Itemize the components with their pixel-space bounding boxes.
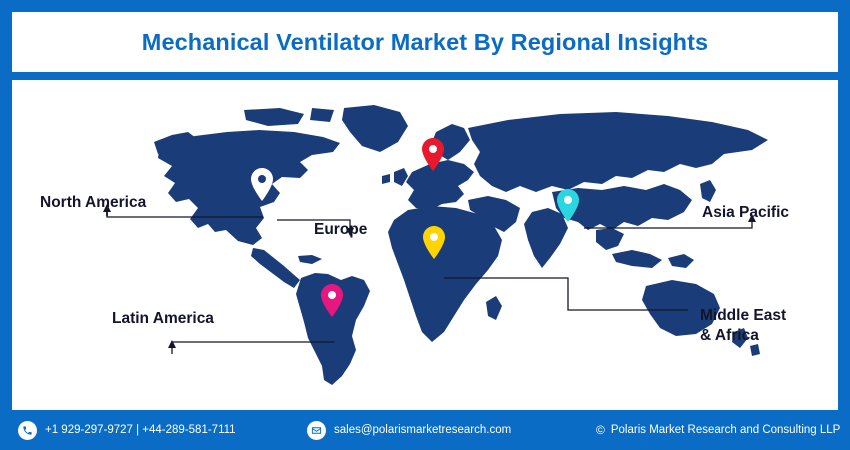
map-landmasses: [154, 105, 768, 385]
page-title: Mechanical Ventilator Market By Regional…: [12, 12, 838, 72]
footer-phone[interactable]: +1 929-297-9727 | +44-289-581-7111: [18, 410, 236, 450]
footer-email-text: sales@polarismarketresearch.com: [334, 424, 511, 436]
footer-copyright: © Polaris Market Research and Consulting…: [596, 410, 840, 450]
envelope-icon: [307, 421, 326, 440]
footer-email[interactable]: sales@polarismarketresearch.com: [307, 410, 511, 450]
label-middle-east-africa-line2: & Africa: [700, 326, 786, 346]
footer-copyright-text: Polaris Market Research and Consulting L…: [611, 424, 840, 436]
label-latin-america: Latin America: [112, 309, 214, 328]
footer-bar: +1 929-297-9727 | +44-289-581-7111 sales…: [0, 410, 850, 450]
label-middle-east-africa: Middle East & Africa: [700, 306, 786, 346]
leader-latin-america: [172, 342, 334, 354]
label-europe: Europe: [314, 220, 367, 239]
header-band: Mechanical Ventilator Market By Regional…: [12, 12, 838, 72]
label-north-america: North America: [40, 193, 146, 212]
copyright-icon: ©: [596, 423, 605, 437]
footer-phone-text: +1 929-297-9727 | +44-289-581-7111: [45, 424, 236, 436]
label-asia-pacific: Asia Pacific: [702, 203, 789, 222]
infographic-page: Mechanical Ventilator Market By Regional…: [0, 0, 850, 450]
phone-icon: [18, 421, 37, 440]
map-canvas: North America Europe Asia Pacific Latin …: [12, 80, 838, 410]
label-middle-east-africa-line1: Middle East: [700, 306, 786, 326]
world-map-graphic: [12, 80, 838, 410]
